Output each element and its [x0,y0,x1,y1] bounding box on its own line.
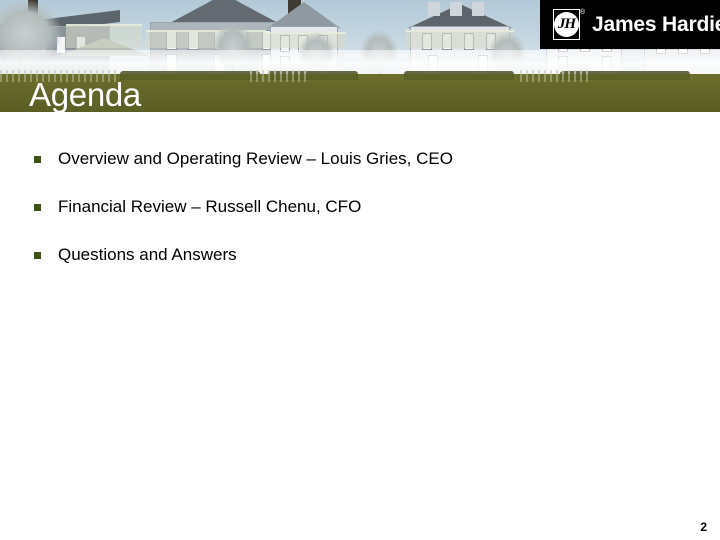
jh-monogram-circle: JH [554,12,579,37]
james-hardie-logo: JH ® James Hardie [540,0,720,49]
bullet-square-icon [34,156,41,163]
bullet-square-icon [34,204,41,211]
house-dormer [472,2,484,16]
agenda-bullet-list: Overview and Operating Review – Louis Gr… [0,148,720,292]
list-item-label: Financial Review – Russell Chenu, CFO [58,196,361,218]
jh-monogram-letters: JH [558,17,575,32]
gazebo-deck [66,24,142,48]
jh-monogram-icon: JH ® [553,9,580,40]
house-roof [168,0,280,24]
logo-wordmark: James Hardie [592,13,720,37]
page-number: 2 [700,520,707,534]
list-item-label: Questions and Answers [58,244,237,266]
list-item-label: Overview and Operating Review – Louis Gr… [58,148,453,170]
list-item: Overview and Operating Review – Louis Gr… [0,148,720,196]
house-dormer [450,2,462,16]
bullet-square-icon [34,252,41,259]
slide-title: Agenda [29,78,141,111]
list-item: Questions and Answers [0,244,720,292]
house-dormer [428,2,440,16]
presentation-slide: JH ® James Hardie Agenda Overview and Op… [0,0,720,540]
registered-trademark-icon: ® [580,9,585,16]
house-roof [268,2,340,28]
list-item: Financial Review – Russell Chenu, CFO [0,196,720,244]
